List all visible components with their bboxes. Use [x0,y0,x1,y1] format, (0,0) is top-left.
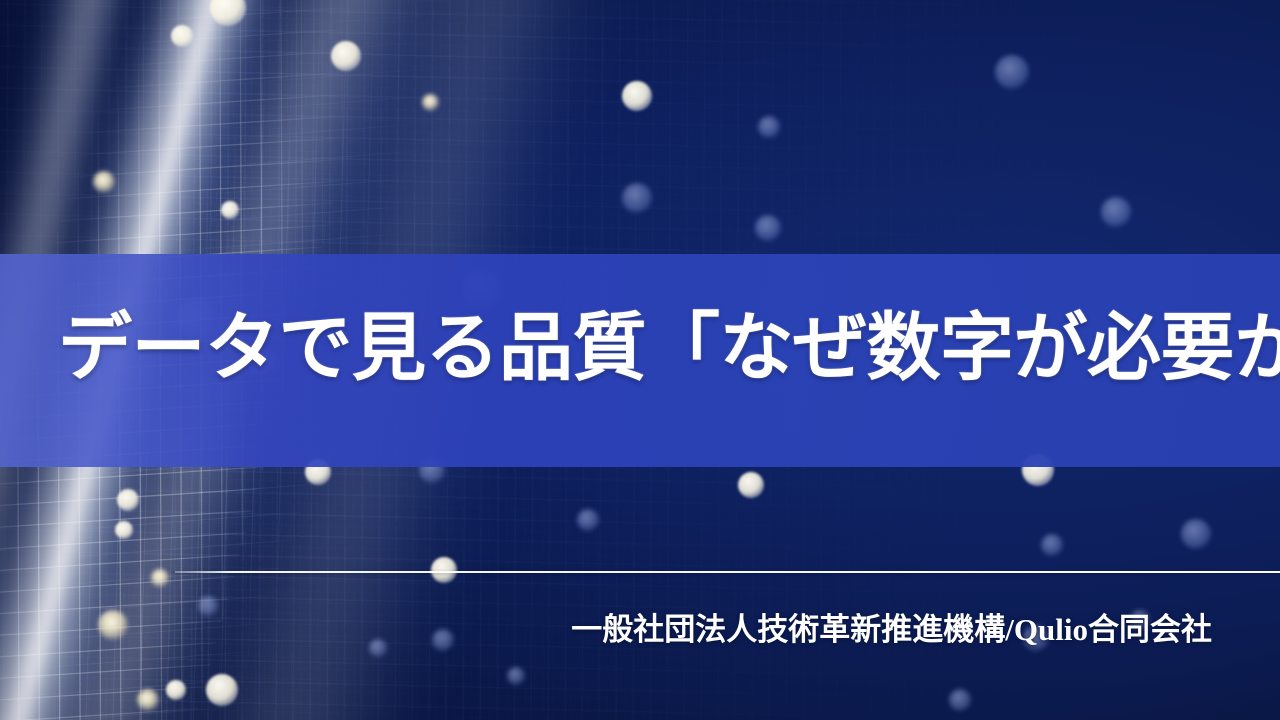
organization-name: 一般社団法人技術革新推進機構/Qulio合同会社 [571,604,1212,649]
title-slide: データで見る品質「なぜ数字が必要か」 一般社団法人技術革新推進機構/Qulio合… [0,0,1280,720]
divider-rule [175,571,1280,573]
page-title: データで見る品質「なぜ数字が必要か」 [58,312,1238,386]
